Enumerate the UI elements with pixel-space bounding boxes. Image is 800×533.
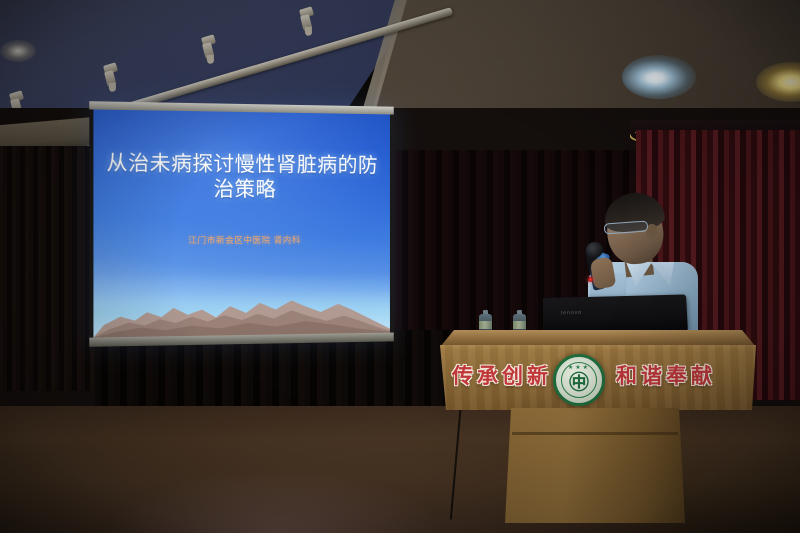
podium-top-surface [440,330,756,347]
laptop-brand-label: lenovo [561,310,582,316]
emblem-stars: ★★★ [556,364,602,371]
slide-mountain-graphic [93,288,390,338]
podium-base-moulding [512,432,678,435]
lecture-hall-photo: 从治未病探讨慢性肾脏病的防治策略 江门市新会区中医院 肾内科 lenovo [0,0,800,533]
emblem-glyph-icon: ㊥ [556,373,602,393]
hospital-emblem: ★★★ ㊥ [553,354,605,406]
floor-light-reflection [110,470,440,533]
slide-surface: 从治未病探讨慢性肾脏病的防治策略 江门市新会区中医院 肾内科 [93,109,390,337]
slide-subtitle: 江门市新会区中医院 肾内科 [102,234,383,247]
lenovo-laptop[interactable]: lenovo [543,294,688,333]
projection-screen: 从治未病探讨慢性肾脏病的防治策略 江门市新会区中医院 肾内科 [89,101,393,347]
podium-base-column [505,408,685,523]
microphone-led-indicator [588,277,593,282]
podium-slogan-right: 和谐奉献 [616,360,716,390]
podium-slogan-left: 传承创新 [452,360,552,390]
slide-title: 从治未病探讨慢性肾脏病的防治策略 [102,150,383,202]
bottle-label [513,321,526,329]
bottle-label [479,321,492,329]
